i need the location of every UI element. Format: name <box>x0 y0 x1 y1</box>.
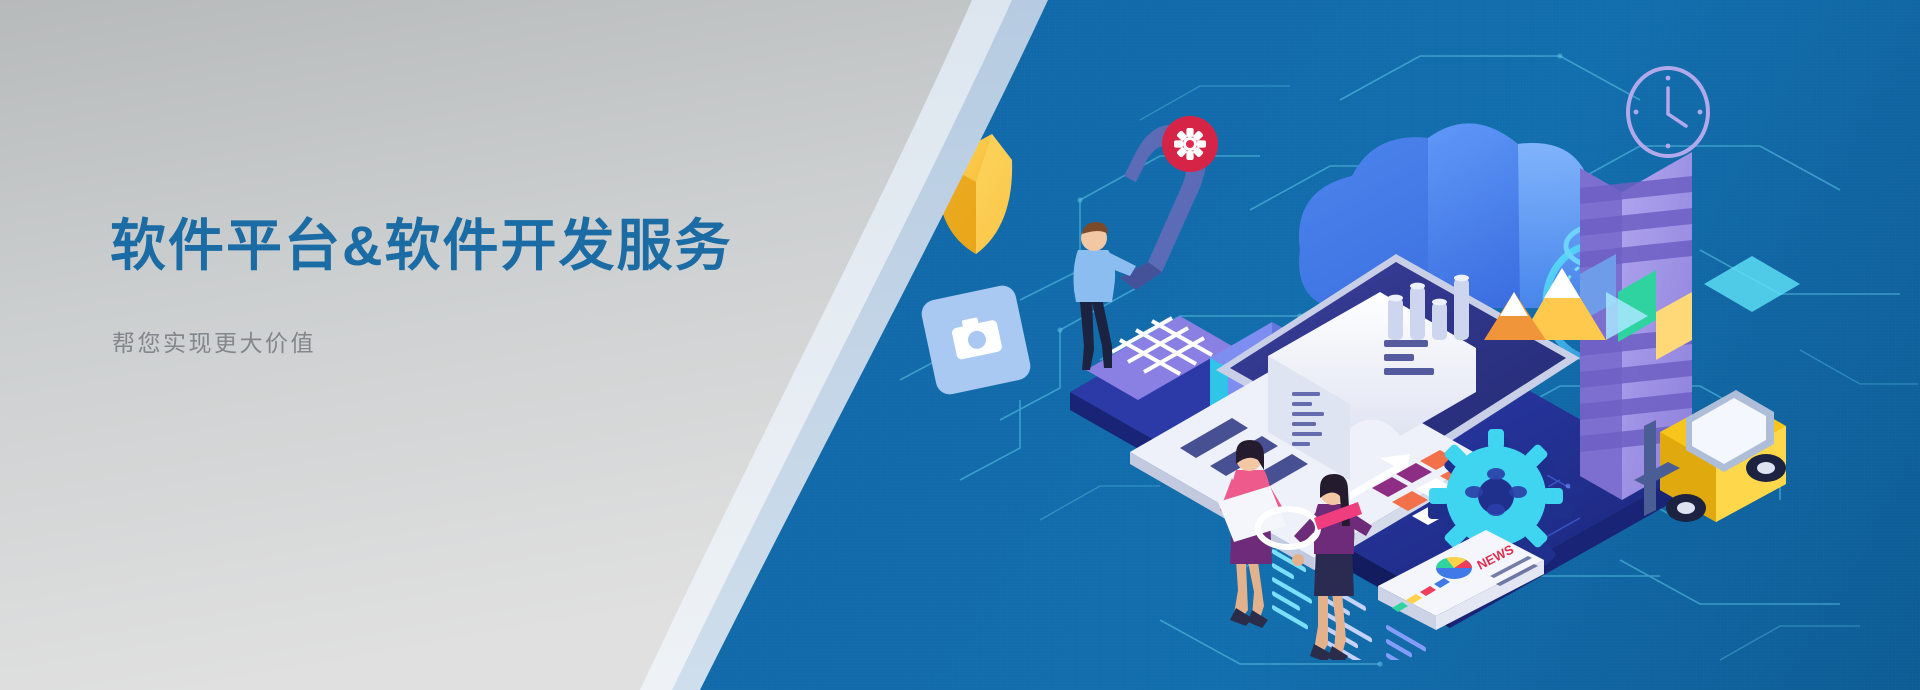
hero-banner: NEWS <box>0 0 1920 690</box>
hero-text-block: 软件平台&软件开发服务 帮您实现更大价值 <box>110 214 750 359</box>
clock-icon <box>1628 68 1708 156</box>
security-shield-icon <box>938 134 1012 254</box>
isometric-illustration: NEWS <box>880 40 1920 660</box>
cyan-diamond-accent <box>1704 256 1800 312</box>
page-title: 软件平台&软件开发服务 <box>110 214 750 279</box>
pie-chart <box>1436 557 1472 579</box>
settings-gear-badge <box>1162 116 1218 172</box>
camera-icon-tile <box>919 283 1033 397</box>
page-subtitle: 帮您实现更大价值 <box>112 329 750 359</box>
